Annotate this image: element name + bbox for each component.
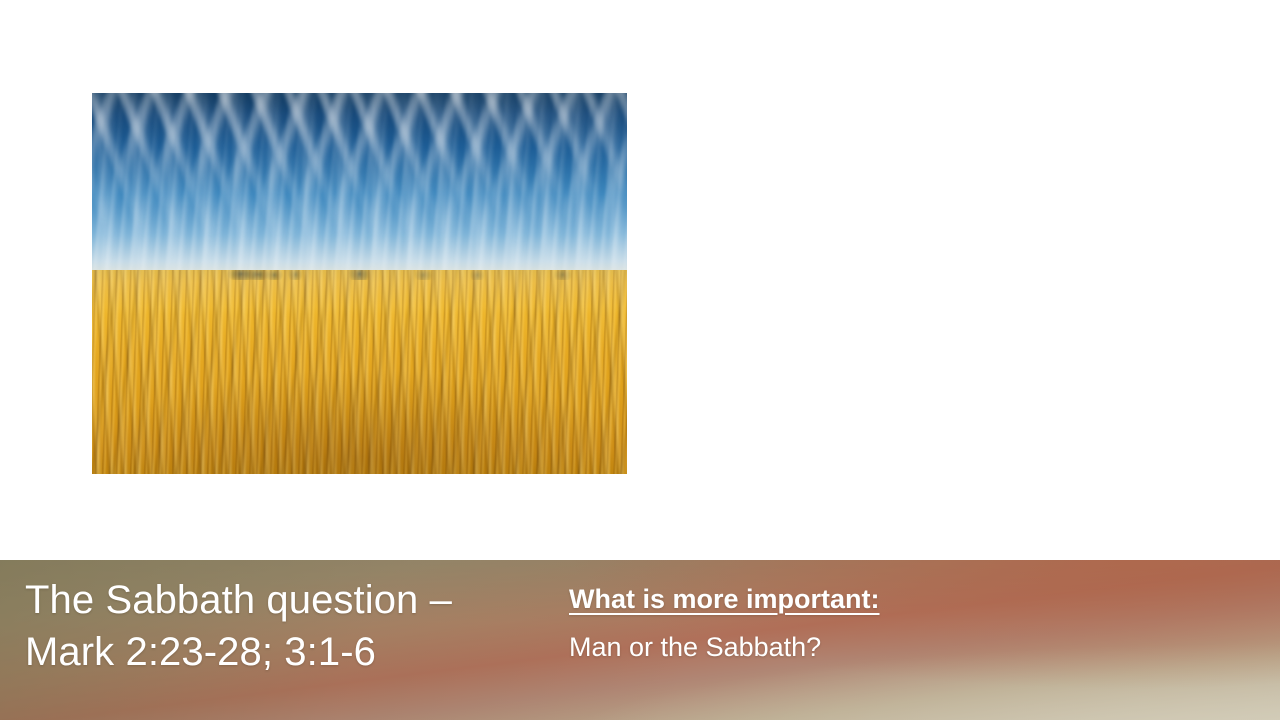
wheat-field-region	[92, 270, 627, 474]
presentation-slide: The Sabbath question – Mark 2:23-28; 3:1…	[0, 0, 1280, 720]
field-shading-overlay	[92, 270, 627, 474]
slide-title-line-1: The Sabbath question –	[25, 574, 525, 626]
title-banner: The Sabbath question – Mark 2:23-28; 3:1…	[0, 560, 1280, 720]
cirrus-cloud-layer-3	[92, 93, 627, 292]
cirrus-cloud-layer-4	[92, 93, 627, 299]
callout-subline: Man or the Sabbath?	[569, 630, 1189, 665]
callout-kicker-wrapper: What is more important:	[569, 582, 1189, 617]
callout-kicker: What is more important:	[569, 582, 880, 617]
slide-callout: What is more important: Man or the Sabba…	[569, 582, 1189, 664]
wheat-field-image	[92, 93, 627, 474]
slide-title-line-2: Mark 2:23-28; 3:1-6	[25, 626, 525, 678]
image-content	[92, 93, 627, 474]
slide-title: The Sabbath question – Mark 2:23-28; 3:1…	[25, 574, 525, 678]
sky-region	[92, 93, 627, 274]
